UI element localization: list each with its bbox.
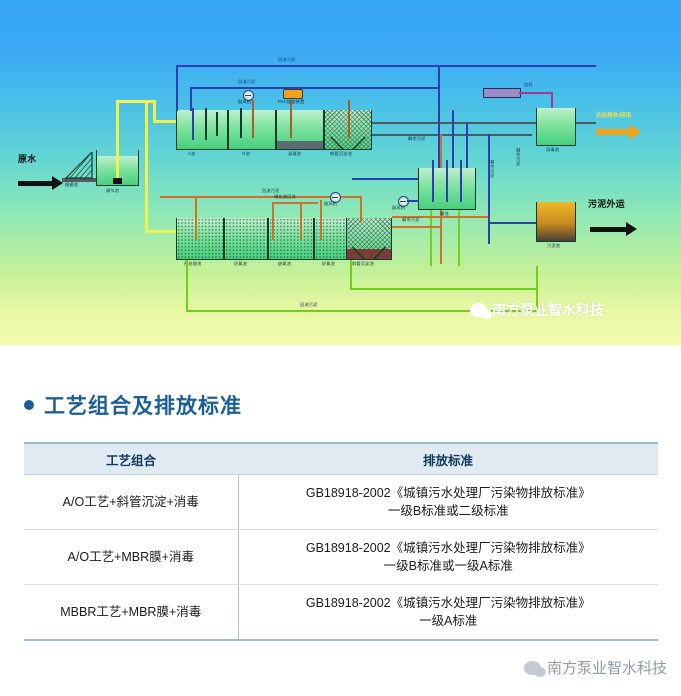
- blower-drop-o: [252, 100, 254, 138]
- standard-line-1: GB18918-2002《城镇污水处理厂污染物排放标准》: [306, 486, 591, 500]
- diagram-label-anoxic-tank: 缺氧池: [278, 262, 291, 266]
- page-title: 工艺组合及排放标准: [44, 390, 242, 420]
- diagram-label-blower-bottom: 鼓风机: [324, 202, 337, 206]
- cell-process: MBBR工艺+MBR膜+消毒: [24, 585, 238, 641]
- pac-drop: [290, 100, 292, 138]
- mbr-riser-1: [432, 160, 434, 202]
- diagram-label-return-sludge-4: 回流污泥: [300, 303, 318, 307]
- yellow-pipe-v3: [145, 100, 148, 232]
- column-header-process: 工艺组合: [24, 443, 238, 475]
- pac-dosing-unit-icon: [283, 89, 303, 99]
- bottom-drop-3: [300, 202, 302, 240]
- cell-process: A/O工艺+MBR膜+消毒: [24, 530, 238, 585]
- diagram-label-aerobic-tank: 好氧池: [322, 262, 335, 266]
- diagram-label-inlet: 原水: [18, 155, 36, 164]
- table-row: A/O工艺+斜管沉淀+消毒 GB18918-2002《城镇污水处理厂污染物排放标…: [24, 475, 658, 530]
- regulating-pump-riser: [116, 156, 119, 180]
- green-return-left: [186, 260, 188, 312]
- diagram-watermark-text: 南方泵业智水科技: [492, 300, 604, 320]
- diagram-label-dosing: 加药: [524, 83, 533, 87]
- cell-standard: GB18918-2002《城镇污水处理厂污染物排放标准》 一级A标准: [238, 585, 658, 641]
- diagram-label-nitrate-recycle: 硝化液回流: [274, 195, 296, 199]
- diagram-label-blower-mbr: 鼓风机: [392, 206, 405, 210]
- table-row: A/O工艺+MBR膜+消毒 GB18918-2002《城镇污水处理厂污染物排放标…: [24, 530, 658, 585]
- content-section: 工艺组合及排放标准 工艺组合 排放标准 A/O工艺+斜管沉淀+消毒 GB1891…: [0, 390, 681, 696]
- settler-feed-drop: [360, 196, 362, 222]
- diagram-label-discharge: 达标排放/回用: [596, 114, 631, 119]
- cell-standard: GB18918-2002《城镇污水处理厂污染物排放标准》 一级B标准或二级标准: [238, 475, 658, 530]
- footer-watermark: 南方泵业智水科技: [524, 657, 667, 678]
- diagram-label-return-sludge-1: 回流污泥: [278, 58, 296, 62]
- disinfection-tank: [536, 108, 576, 146]
- diagram-label-return-sludge-3: 回流污泥: [262, 189, 280, 193]
- process-standards-table: 工艺组合 排放标准 A/O工艺+斜管沉淀+消毒 GB18918-2002《城镇污…: [24, 442, 658, 641]
- diagram-label-excess-sludge-1: 剩余污泥: [408, 137, 426, 141]
- diagram-label-return-sludge-2: 回流污泥: [238, 80, 256, 84]
- sludge-tank: [536, 202, 576, 242]
- anoxic-tank-a: [176, 110, 228, 150]
- green-settler-right: [350, 288, 538, 290]
- sludge-out-arrow-icon: [590, 222, 637, 236]
- sludge-feed-pipe: [488, 222, 536, 224]
- settler-drop: [348, 100, 350, 138]
- bottom-drop-2: [272, 202, 274, 240]
- diagram-label-anaerobic-tank: 厌氧池: [234, 262, 247, 266]
- nitrate-recycle-h: [272, 202, 318, 204]
- mbr-blower-pipe: [407, 200, 419, 202]
- table-header-row: 工艺组合 排放标准: [24, 443, 658, 475]
- diagram-watermark: 南方泵业智水科技: [470, 300, 604, 320]
- return-line-mid: [190, 87, 440, 89]
- diagram-label-tank-o: O池: [242, 152, 250, 156]
- process-flow-diagram: 原水 格栅池 调节池 A池 O池 混凝池 斜管沉淀池: [0, 0, 681, 345]
- aeration-drop-4: [240, 108, 242, 138]
- yellow-pipe-h2: [153, 120, 178, 123]
- table-row: MBBR工艺+MBR膜+消毒 GB18918-2002《城镇污水处理厂污染物排放…: [24, 585, 658, 641]
- coagulation-tank: [276, 110, 324, 150]
- standard-line-1: GB18918-2002《城镇污水处理厂污染物排放标准》: [306, 596, 591, 610]
- bottom-drop-4: [320, 200, 322, 240]
- cell-process: A/O工艺+斜管沉淀+消毒: [24, 475, 238, 530]
- diagram-label-tank-a: A池: [188, 152, 195, 156]
- standard-line-1: GB18918-2002《城镇污水处理厂污染物排放标准》: [306, 541, 591, 555]
- diagram-label-pac-dosing: PAC投加装置: [278, 100, 304, 104]
- riser-blue-4: [488, 134, 490, 244]
- yellow-pipe-h1: [116, 100, 156, 103]
- section-heading: 工艺组合及排放标准: [24, 390, 681, 420]
- cell-standard: GB18918-2002《城镇污水处理厂污染物排放标准》 一级B标准或一级A标准: [238, 530, 658, 585]
- diagram-label-coagulation-tank: 混凝池: [288, 152, 301, 156]
- submersible-pump-icon: [113, 178, 122, 184]
- pretreatment-tank: [176, 218, 224, 260]
- green-settler-down: [350, 260, 352, 290]
- footer-watermark-text: 南方泵业智水科技: [547, 657, 667, 678]
- aeration-drop-2: [205, 108, 207, 140]
- dosing-pipe-h: [519, 92, 553, 94]
- wechat-icon: [470, 303, 487, 317]
- aeration-drop-1: [192, 108, 194, 140]
- mbr-green-2: [458, 210, 460, 266]
- yellow-pipe-h3: [145, 230, 177, 233]
- bottom-drop-1: [195, 196, 197, 240]
- diagram-label-sludge-out: 污泥外运: [588, 200, 625, 209]
- settler-out-orange: [392, 226, 442, 228]
- standard-line-2: 一级A标准: [245, 612, 653, 630]
- diagram-label-settler-bottom: 斜管沉淀池: [352, 262, 374, 266]
- diagram-label-blower-top: 鼓风机: [238, 100, 251, 104]
- diagram-label-grit-tank: 格栅池: [65, 183, 78, 187]
- mbr-riser-2: [446, 160, 448, 202]
- yellow-pipe-v1: [116, 100, 119, 158]
- yellow-pipe-v2: [153, 100, 156, 122]
- mbr-feed-pipe: [352, 178, 418, 180]
- column-header-standard: 排放标准: [238, 443, 658, 475]
- bullet-icon: [24, 400, 34, 410]
- diagram-label-disinfection-tank: 消毒池: [546, 148, 559, 152]
- standard-line-2: 一级B标准或二级标准: [245, 502, 653, 520]
- bar-screen-icon: [64, 152, 94, 180]
- mbr-riser-3: [460, 160, 462, 202]
- wechat-icon: [524, 661, 541, 675]
- diagram-label-regulating-tank: 调节池: [106, 189, 119, 193]
- standard-line-2: 一级B标准或一级A标准: [245, 557, 653, 575]
- inlet-arrow-icon: [18, 176, 64, 190]
- return-line-mid-left: [190, 87, 192, 111]
- inclined-plate-settler-bottom: [346, 218, 392, 260]
- dosing-device-icon: [483, 88, 521, 98]
- anaerobic-tank: [224, 218, 268, 260]
- discharge-arrow-icon: [596, 124, 641, 140]
- return-line-top: [176, 65, 596, 67]
- anoxic-tank: [268, 218, 314, 260]
- diagram-label-excess-sludge-3: 剩余污泥: [516, 148, 520, 166]
- return-line-top-left: [176, 65, 178, 111]
- diagram-label-sludge-tank: 污泥池: [547, 244, 560, 248]
- diagram-label-excess-sludge-2: 剩余污泥: [490, 160, 494, 178]
- diagram-label-settler-top: 斜管沉淀池: [330, 152, 352, 156]
- aeration-drop-3: [216, 112, 218, 136]
- diagram-label-excess-sludge-4: 剩余污泥: [402, 218, 420, 222]
- mbr-green-1: [430, 210, 432, 266]
